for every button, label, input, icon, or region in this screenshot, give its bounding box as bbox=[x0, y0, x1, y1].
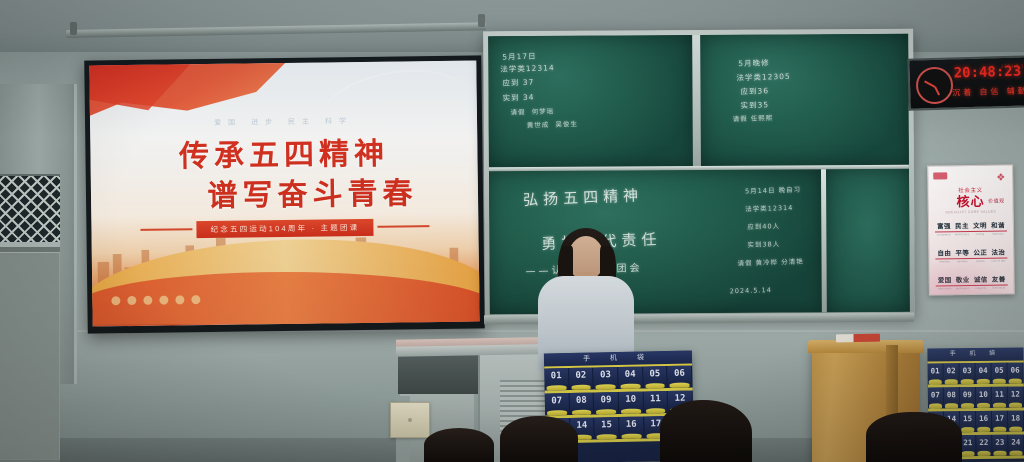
chalk-note-attendance-left-5: 黄世成 吴俊生 bbox=[521, 120, 579, 131]
phone-pocket-right-cell-11[interactable]: 11 bbox=[992, 387, 1008, 408]
phone-pocket-front-cell-08[interactable]: 08 bbox=[569, 393, 594, 416]
chalk-note-attendance-left-3: 实到 34 bbox=[502, 93, 534, 104]
chalk-note-attendance-left-2: 应到 37 bbox=[502, 78, 534, 89]
poster-value-zh-1: 民主 bbox=[953, 220, 971, 232]
poster-value-6: 公正justice bbox=[971, 247, 989, 263]
poster-value-0: 富强prosperity bbox=[935, 220, 953, 236]
chalk-note-attendance-left-1: 法学类12314 bbox=[500, 63, 555, 75]
chalk-note-right-2: 应到40人 bbox=[747, 222, 780, 232]
poster-value-zh-3: 和谐 bbox=[989, 219, 1007, 231]
phone-pocket-right-cell-02[interactable]: 02 bbox=[944, 363, 960, 384]
poster-value-en-11: friendship bbox=[990, 286, 1008, 289]
door-lower-panel bbox=[0, 252, 60, 460]
poster-value-en-0: prosperity bbox=[935, 233, 953, 236]
classroom-door[interactable] bbox=[0, 84, 77, 384]
phone-pocket-right-cell-15[interactable]: 15 bbox=[960, 411, 976, 432]
blackboard-panel-top-right bbox=[700, 34, 909, 166]
phone-pocket-right-cell-06[interactable]: 06 bbox=[1008, 362, 1024, 383]
desk-equipment-cavity bbox=[398, 352, 480, 394]
phone-pocket-right-cell-16[interactable]: 16 bbox=[976, 411, 992, 432]
presentation-slide: 爱国 进步 民主 科学 传承五四精神 谱写奋斗青春 纪念五四运动104周年 · … bbox=[89, 60, 479, 326]
poster-english-subtitle: SOCIALIST CORE VALUES bbox=[929, 209, 1013, 214]
poster-value-zh-7: 法治 bbox=[989, 246, 1007, 258]
foreground-student-d bbox=[424, 428, 494, 462]
poster-value-en-10: integrity bbox=[972, 287, 990, 290]
phone-pocket-front-row: 010203040506 bbox=[544, 365, 692, 393]
phone-pocket-right-cell-09[interactable]: 09 bbox=[960, 387, 976, 408]
phone-pocket-front-cell-10[interactable]: 10 bbox=[619, 391, 644, 414]
phone-pocket-right-cell-05[interactable]: 05 bbox=[992, 363, 1008, 384]
foreground-student-a bbox=[500, 416, 578, 462]
student-b-hair bbox=[660, 400, 752, 462]
poster-bird-icon: ❖ bbox=[996, 173, 1005, 184]
poster-value-zh-0: 富强 bbox=[935, 220, 953, 232]
phone-pocket-front-cell-04[interactable]: 04 bbox=[618, 366, 643, 389]
poster-value-3: 和谐harmony bbox=[989, 219, 1007, 235]
lectern-papers bbox=[836, 334, 880, 343]
phone-pocket-front-cell-06[interactable]: 06 bbox=[668, 365, 693, 388]
poster-value-en-3: harmony bbox=[989, 232, 1007, 235]
classroom-scene: 爱国 进步 民主 科学 传承五四精神 谱写奋斗青春 纪念五四运动104周年 · … bbox=[0, 0, 1024, 462]
chalk-note-attendance-right-0: 5月晚修 bbox=[738, 58, 770, 69]
phone-pocket-right-cell-17[interactable]: 17 bbox=[992, 411, 1008, 432]
poster-value-10: 诚信integrity bbox=[972, 274, 990, 290]
foreground-student-c bbox=[866, 412, 962, 462]
poster-value-zh-8: 爱国 bbox=[936, 274, 954, 286]
phone-pocket-front-cell-09[interactable]: 09 bbox=[594, 392, 619, 415]
chalk-note-attendance-right-3: 实到35 bbox=[740, 100, 769, 111]
chalk-note-attendance-right-2: 应到36 bbox=[740, 86, 769, 97]
poster-value-11: 友善friendship bbox=[990, 273, 1008, 289]
poster-values-grid: 富强prosperity民主democracy文明civility和谐harmo… bbox=[935, 219, 1008, 290]
poster-value-zh-4: 自由 bbox=[935, 247, 953, 259]
phone-pocket-front-cell-15[interactable]: 15 bbox=[595, 417, 620, 440]
chalk-note-attendance-right-4: 请假 任熙熙 bbox=[733, 114, 774, 124]
led-side-text: 2024 5.14 bbox=[1001, 63, 1024, 71]
phone-pocket-front-cell-07[interactable]: 07 bbox=[545, 393, 570, 416]
phone-pocket-right-row: 070809101112 bbox=[928, 386, 1024, 411]
led-subtitle-text: 沉着 自信 辅勤 bbox=[952, 85, 1024, 98]
projection-surface: 爱国 进步 民主 科学 传承五四精神 谱写奋斗青春 纪念五四运动104周年 · … bbox=[89, 60, 479, 326]
chalk-note-attendance-left-0: 5月17日 bbox=[502, 52, 537, 63]
lectern-top-surface bbox=[808, 340, 924, 353]
slide-icon-row bbox=[112, 295, 201, 305]
phone-pocket-right-cell-23[interactable]: 23 bbox=[992, 435, 1008, 456]
screen-mount-left bbox=[70, 22, 77, 35]
poster-value-2: 文明civility bbox=[971, 220, 989, 236]
chalk-theme-date: 2024.5.14 bbox=[730, 286, 772, 296]
poster-value-7: 法治rule of law bbox=[989, 246, 1007, 262]
poster-value-en-2: civility bbox=[971, 233, 989, 236]
phone-pocket-right-cell-24[interactable]: 24 bbox=[1008, 434, 1024, 455]
phone-pocket-right-cell-18[interactable]: 18 bbox=[1008, 410, 1024, 431]
poster-value-5: 平等equality bbox=[953, 247, 971, 263]
poster-value-zh-2: 文明 bbox=[971, 220, 989, 232]
poster-value-en-6: justice bbox=[971, 260, 989, 263]
blackboard-divider-v1 bbox=[692, 35, 701, 166]
core-values-poster: ❖ 社会主义 核心 价值观 SOCIALIST CORE VALUES 富强pr… bbox=[927, 164, 1015, 295]
door-rail bbox=[0, 242, 60, 247]
poster-value-en-8: patriotism bbox=[936, 287, 954, 290]
poster-value-zh-11: 友善 bbox=[990, 273, 1008, 285]
phone-pocket-right-cell-22[interactable]: 22 bbox=[976, 435, 992, 456]
phone-pocket-right-row: 010203040506 bbox=[928, 362, 1024, 387]
led-clock-panel: 20:48:23 沉着 自信 辅勤 2024 5.14 bbox=[907, 55, 1024, 110]
poster-side-title: 价值观 bbox=[988, 198, 1005, 205]
blackboard-panel-right bbox=[825, 169, 910, 313]
student-d-hair bbox=[424, 428, 494, 462]
poster-value-9: 敬业dedication bbox=[954, 274, 972, 290]
poster-value-zh-10: 诚信 bbox=[972, 274, 990, 286]
analog-clock-icon bbox=[916, 66, 954, 104]
phone-pocket-front-cell-03[interactable]: 03 bbox=[594, 367, 619, 390]
door-lattice-grille bbox=[0, 176, 60, 242]
pocket-chart-right-header: 手 机 袋 bbox=[927, 348, 1023, 364]
blackboard-divider-v2 bbox=[821, 169, 827, 312]
presenting-student bbox=[530, 228, 642, 368]
poster-value-8: 爱国patriotism bbox=[936, 274, 954, 290]
phone-pocket-right-cell-08[interactable]: 08 bbox=[944, 387, 960, 408]
poster-value-zh-6: 公正 bbox=[971, 247, 989, 259]
poster-logo-icon bbox=[933, 172, 947, 179]
poster-value-en-4: freedom bbox=[935, 260, 953, 263]
phone-pocket-front-cell-01[interactable]: 01 bbox=[544, 368, 569, 391]
poster-value-1: 民主democracy bbox=[953, 220, 971, 236]
slide-title-line2: 谱写奋斗青春 bbox=[91, 167, 480, 216]
poster-value-zh-5: 平等 bbox=[953, 247, 971, 259]
poster-value-4: 自由freedom bbox=[935, 247, 953, 263]
chalk-note-attendance-right-1: 法学类12305 bbox=[736, 72, 791, 84]
poster-value-en-7: rule of law bbox=[989, 259, 1007, 262]
chalk-note-attendance-left-4: 请假 何梦瑶 bbox=[510, 107, 554, 117]
phone-pocket-front-cell-05[interactable]: 05 bbox=[643, 366, 668, 389]
student-a-hair bbox=[500, 416, 578, 462]
phone-pocket-right-cell-07[interactable]: 07 bbox=[928, 387, 944, 408]
phone-pocket-right-cell-21[interactable]: 21 bbox=[960, 435, 976, 456]
phone-pocket-front-cell-02[interactable]: 02 bbox=[569, 368, 594, 391]
phone-pocket-right-cell-12[interactable]: 12 bbox=[1008, 386, 1024, 407]
projection-screen[interactable]: 爱国 进步 民主 科学 传承五四精神 谱写奋斗青春 纪念五四运动104周年 · … bbox=[84, 55, 485, 333]
screen-mount-right bbox=[478, 14, 485, 27]
phone-pocket-front-cell-16[interactable]: 16 bbox=[619, 416, 644, 439]
poster-value-en-1: democracy bbox=[953, 233, 971, 236]
phone-pocket-right-cell-04[interactable]: 04 bbox=[976, 363, 992, 384]
chalk-note-right-3: 实到38人 bbox=[747, 240, 780, 250]
phone-pocket-right-cell-10[interactable]: 10 bbox=[976, 387, 992, 408]
poster-value-en-5: equality bbox=[953, 260, 971, 263]
foreground-student-b bbox=[660, 400, 752, 462]
poster-value-zh-9: 敬业 bbox=[954, 274, 972, 286]
chalk-note-right-0: 5月14日 晚自习 bbox=[745, 186, 801, 196]
phone-pocket-right-cell-03[interactable]: 03 bbox=[960, 363, 976, 384]
phone-pocket-right-cell-01[interactable]: 01 bbox=[928, 363, 944, 384]
chalk-note-right-1: 法学类12314 bbox=[745, 204, 793, 214]
student-c-hair bbox=[866, 412, 962, 462]
poster-value-en-9: dedication bbox=[954, 287, 972, 290]
